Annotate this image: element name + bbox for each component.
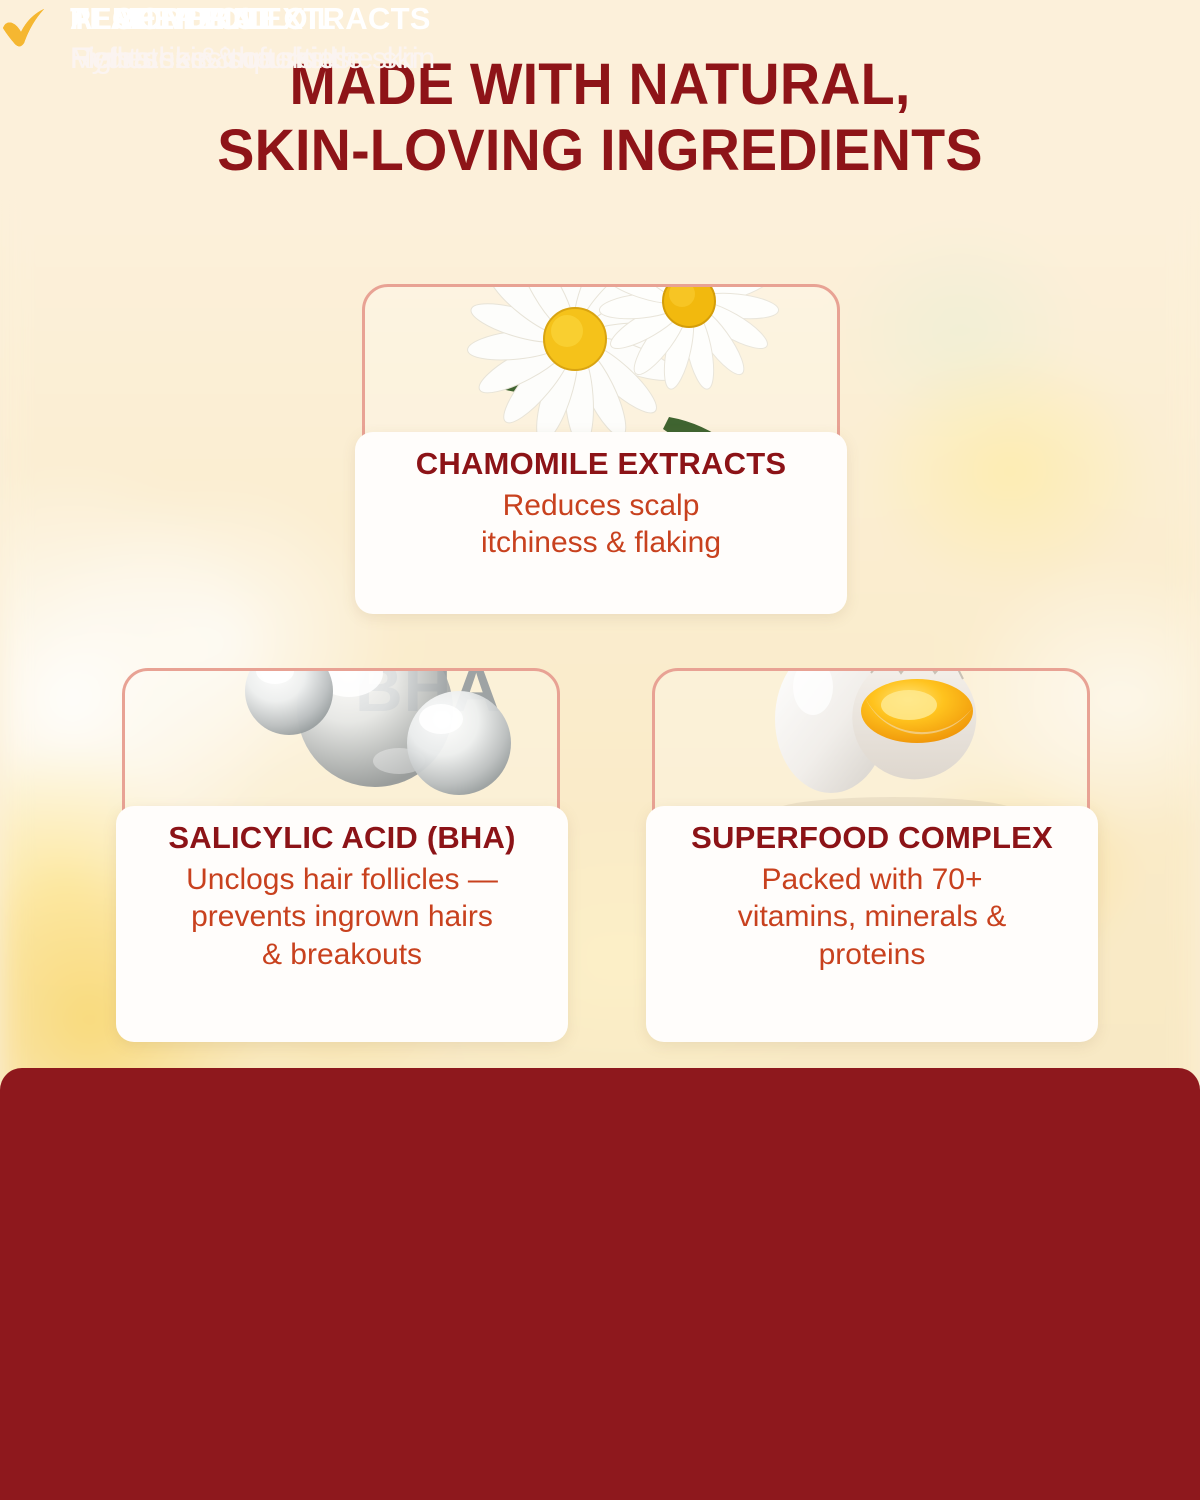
infographic-canvas: MADE WITH NATURAL, SKIN-LOVING INGREDIEN… [0,0,1200,1500]
ingredient-title: CHAMOMILE EXTRACTS [365,446,837,483]
ingredient-description: Unclogs hair follicles — prevents ingrow… [126,861,558,974]
ingredient-panel-superfood: SUPERFOOD COMPLEX Packed with 70+ vitami… [646,806,1098,1042]
ingredient-panel-chamomile: CHAMOMILE EXTRACTS Reduces scalp itchine… [355,432,847,614]
benefit-description: Refreshes & cools the skin [70,40,445,77]
benefit-item-peppermint-oil: PEPPERMINT OIL Refreshes & cools the ski… [0,0,445,77]
ingredient-title: SALICYLIC ACID (BHA) [126,820,558,857]
check-icon [0,6,48,48]
benefits-band [0,1068,1200,1500]
ingredient-title: SUPERFOOD COMPLEX [656,820,1088,857]
ingredient-description: Reduces scalp itchiness & flaking [365,487,837,563]
svg-text:BHA: BHA [355,671,501,725]
benefit-title: PEPPERMINT OIL [70,0,445,37]
ingredient-panel-salicylic-acid: SALICYLIC ACID (BHA) Unclogs hair follic… [116,806,568,1042]
ingredient-description: Packed with 70+ vitamins, minerals & pro… [656,861,1088,974]
